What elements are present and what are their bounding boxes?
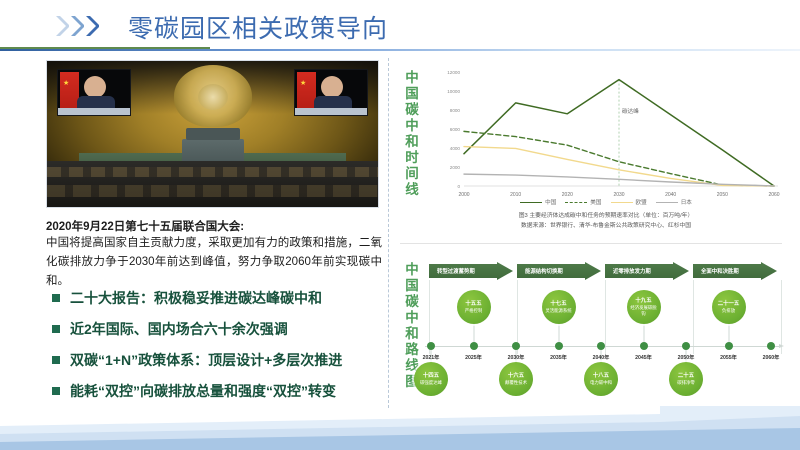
slide-header: 零碳园区相关政策导向 (0, 0, 800, 52)
chart-section-label: 中国碳中和时间线 (400, 70, 424, 198)
svg-text:12000: 12000 (447, 70, 460, 75)
carbon-timeline-chart: 0200040006000800010000120002000201020202… (430, 58, 782, 210)
double-chevron-right-icon (55, 14, 99, 38)
bullet-text: 双碳“1+N”政策体系：顶层设计+多层次推进 (70, 350, 342, 370)
legend-item: 日本 (656, 198, 692, 206)
year-dot (682, 342, 690, 350)
svg-text:6000: 6000 (450, 127, 461, 132)
svg-text:碳达峰: 碳达峰 (622, 107, 639, 115)
chart-caption: 图3 主要经济体达成碳中和任务的预期速率对比（单位：百万吨/年） 数据来源：世界… (430, 212, 782, 231)
milestone-bubble: 十六五颠覆性技术 (499, 362, 533, 396)
un-assembly-photo (46, 60, 379, 208)
bullet-text: 近2年国际、国内场合六十余次强调 (70, 319, 288, 339)
milestone-bubble: 二十一五负排放 (712, 290, 746, 324)
year-dot (725, 342, 733, 350)
year-dot (640, 342, 648, 350)
milestone-bubble: 十九五经济发展碳脱钩 (627, 290, 661, 324)
legend-item: 美国 (565, 198, 601, 206)
caption-line: 图3 主要经济体达成碳中和任务的预期速率对比（单位：百万吨/年） (430, 212, 782, 222)
year-dot (470, 342, 478, 350)
legend-swatch (520, 202, 542, 203)
svg-text:2000: 2000 (450, 165, 461, 170)
slide-root: 零碳园区相关政策导向 2020年9月22日第七十五届联合国大会: 中国将提高国家… (0, 0, 800, 450)
legend-swatch (565, 202, 587, 203)
section-separator (400, 243, 782, 244)
year-label: 2055年 (720, 354, 737, 361)
page-title: 零碳园区相关政策导向 (128, 9, 388, 45)
phase-arrow: 转型过渡蓄势期 (429, 262, 513, 280)
lead-date: 2020年9月22日第七十五届联合国大会: (46, 218, 244, 234)
year-label: 2021年 (423, 354, 440, 361)
phase-arrow-row: 转型过渡蓄势期能源结构切换期近零排放发力期全面中和决胜期 (425, 262, 785, 280)
year-label: 2060年 (763, 354, 780, 361)
year-label: 2030年 (508, 354, 525, 361)
year-label: 2035年 (550, 354, 567, 361)
milestone-plan: 二十一五 (718, 301, 740, 308)
milestone-goal: 负排放 (720, 308, 737, 314)
square-bullet-icon (52, 325, 60, 333)
list-item: 二十大报告：积极稳妥推进碳达峰碳中和 (52, 288, 388, 319)
svg-text:0: 0 (457, 184, 460, 189)
header-rule (0, 47, 800, 51)
chart-legend: 中国美国欧盟日本 (430, 198, 782, 206)
svg-text:8000: 8000 (450, 108, 461, 113)
milestone-bubble: 十四五碳强度达峰 (414, 362, 448, 396)
milestone-goal: 严格控制 (463, 308, 485, 314)
milestone-goal: 灵活能源系统 (543, 308, 573, 314)
screen-left (57, 69, 131, 116)
svg-text:10000: 10000 (447, 89, 460, 94)
phase-label: 近零排放发力期 (613, 267, 651, 275)
milestone-bubble: 十八五电力碳中和 (584, 362, 618, 396)
legend-label: 美国 (590, 198, 601, 206)
phase-arrow: 全面中和决胜期 (693, 262, 777, 280)
milestone-goal: 颠覆性技术 (503, 380, 529, 386)
year-dot (512, 342, 520, 350)
year-label: 2045年 (635, 354, 652, 361)
chart-canvas: 0200040006000800010000120002000201020202… (430, 58, 782, 210)
year-label: 2040年 (593, 354, 610, 361)
phase-arrow: 近零排放发力期 (605, 262, 689, 280)
column-divider (388, 58, 389, 408)
milestone-plan: 十五五 (465, 301, 481, 308)
legend-swatch (656, 202, 678, 203)
phase-arrow: 能源结构切换期 (517, 262, 601, 280)
milestone-plan: 十七五 (550, 301, 566, 308)
milestone-plan: 十四五 (423, 373, 439, 380)
un-emblem-icon (174, 65, 252, 127)
bullet-text: 二十大报告：积极稳妥推进碳达峰碳中和 (70, 288, 322, 308)
phase-label: 能源结构切换期 (525, 267, 563, 275)
milestone-goal: 碳强度达峰 (418, 380, 444, 386)
square-bullet-icon (52, 356, 60, 364)
footer-decoration (0, 392, 800, 450)
year-dot (597, 342, 605, 350)
gridline (605, 280, 606, 354)
screen-right (294, 69, 368, 116)
year-label: 2050年 (678, 354, 695, 361)
legend-item: 欧盟 (611, 198, 647, 206)
legend-swatch (611, 202, 633, 203)
milestone-plan: 十八五 (593, 373, 609, 380)
year-dot (767, 342, 775, 350)
milestone-bubble: 十五五严格控制 (457, 290, 491, 324)
legend-label: 欧盟 (636, 198, 647, 206)
phase-label: 全面中和决胜期 (701, 267, 739, 275)
year-dot (427, 342, 435, 350)
carbon-roadmap: 转型过渡蓄势期能源结构切换期近零排放发力期全面中和决胜期 2021年2025年2… (425, 262, 785, 402)
milestone-bubble: 十七五灵活能源系统 (542, 290, 576, 324)
milestone-plan: 二十五 (678, 373, 694, 380)
legend-label: 中国 (545, 198, 556, 206)
milestone-plan: 十九五 (635, 298, 651, 305)
square-bullet-icon (52, 294, 60, 302)
list-item: 近2年国际、国内场合六十余次强调 (52, 319, 388, 350)
list-item: 双碳“1+N”政策体系：顶层设计+多层次推进 (52, 350, 388, 381)
milestone-plan: 十六五 (508, 373, 524, 380)
legend-label: 日本 (681, 198, 692, 206)
lead-body: 中国将提高国家自主贡献力度，采取更加有力的政策和措施，二氧化碳排放力争于2030… (46, 234, 382, 291)
year-dot (555, 342, 563, 350)
milestone-goal: 碳排净零 (675, 380, 697, 386)
caption-source: 数据来源：世界银行、清华-布鲁金斯公共政策研究中心、红杉中国 (430, 222, 782, 232)
milestone-goal: 经济发展碳脱钩 (627, 305, 661, 316)
svg-text:4000: 4000 (450, 146, 461, 151)
gridline (693, 280, 694, 354)
milestone-goal: 电力碳中和 (588, 380, 614, 386)
legend-item: 中国 (520, 198, 556, 206)
phase-label: 转型过渡蓄势期 (437, 267, 475, 275)
year-label: 2025年 (465, 354, 482, 361)
milestone-bubble: 二十五碳排净零 (669, 362, 703, 396)
